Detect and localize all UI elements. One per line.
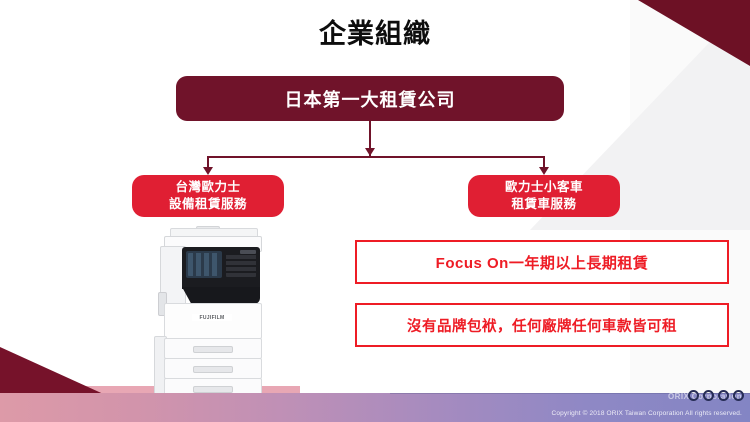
printer-body <box>164 303 262 339</box>
org-node-car-leasing: 歐力士小客車 租賃車服務 <box>468 175 620 217</box>
footer-gradient-band <box>0 393 750 422</box>
printer-tray-handle-3 <box>193 386 233 393</box>
printer-brand-logo: FUJIFILM <box>192 314 232 321</box>
org-node-root-label: 日本第一大租賃公司 <box>285 86 456 112</box>
connector-arrowhead-right <box>539 167 549 175</box>
callout-no-brand-limits: 沒有品牌包袱，任何廠牌任何車款皆可租 <box>355 303 729 347</box>
orix-ring-icon-4 <box>733 390 744 401</box>
org-node-root: 日本第一大租賃公司 <box>176 76 564 121</box>
org-node-car-leasing-line1: 歐力士小客車 <box>505 179 583 196</box>
connector-horizontal-bar <box>207 156 544 158</box>
org-node-car-leasing-line2: 租賃車服務 <box>511 196 576 213</box>
orix-logo <box>688 390 744 401</box>
callout-no-brand-limits-text: 沒有品牌包袱，任何廠牌任何車款皆可租 <box>407 315 677 336</box>
orix-ring-icon-3 <box>718 390 729 401</box>
orix-ring-icon-1 <box>688 390 699 401</box>
connector-arrowhead-left <box>203 167 213 175</box>
printer-tray-handle-2 <box>193 366 233 373</box>
connector-root-arrowhead <box>365 148 375 156</box>
callout-focus-on: Focus On一年期以上長期租賃 <box>355 240 729 284</box>
copyright-notice: Copyright © 2018 ORIX Taiwan Corporation… <box>552 410 743 417</box>
page-title: 企業組織 <box>0 20 750 50</box>
printer-tray-handle-1 <box>193 346 233 353</box>
printer-panel-underside <box>182 287 260 304</box>
slide-canvas: 企業組織 日本第一大租賃公司 台灣歐力士 設備租賃服務 歐力士小客車 租賃車服務… <box>0 0 750 422</box>
orix-ring-icon-2 <box>703 390 714 401</box>
org-node-equipment-leasing: 台灣歐力士 設備租賃服務 <box>132 175 284 217</box>
printer-keypad <box>226 253 256 277</box>
printer-illustration: FUJIFILM <box>152 228 274 393</box>
org-node-equipment-leasing-line1: 台灣歐力士 <box>175 179 240 196</box>
printer-panel-badge <box>240 250 256 254</box>
printer-brand-logo-text: FUJIFILM <box>200 315 225 321</box>
printer-screen-graphic <box>188 253 220 276</box>
org-node-equipment-leasing-line2: 設備租賃服務 <box>169 196 247 213</box>
callout-focus-on-text: Focus On一年期以上長期租賃 <box>436 252 649 273</box>
